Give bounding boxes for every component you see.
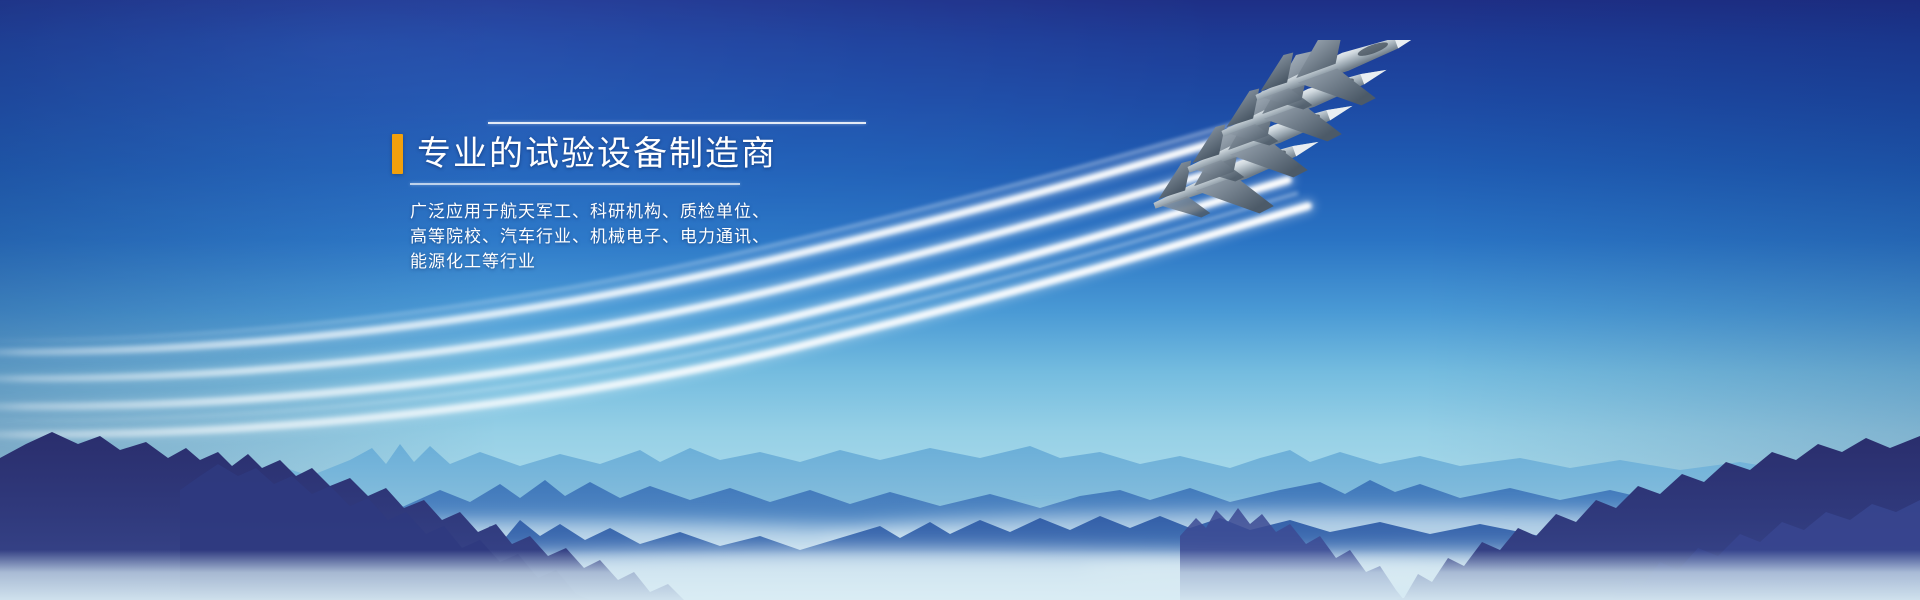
hero-copy: 专业的试验设备制造商 广泛应用于航天军工、科研机构、质检单位、 高等院校、汽车行… — [392, 122, 912, 274]
hero-banner: 专业的试验设备制造商 广泛应用于航天军工、科研机构、质检单位、 高等院校、汽车行… — [0, 0, 1920, 600]
page-title: 专业的试验设备制造商 — [417, 134, 777, 174]
subtitle-line-3: 能源化工等行业 — [410, 249, 912, 274]
subtitle-line-2: 高等院校、汽车行业、机械电子、电力通讯、 — [410, 224, 912, 249]
subtitle-line-1: 广泛应用于航天军工、科研机构、质检单位、 — [410, 199, 912, 224]
accent-bar-icon — [392, 134, 403, 174]
headline-row: 专业的试验设备制造商 — [392, 134, 912, 174]
subtitle-block: 广泛应用于航天军工、科研机构、质检单位、 高等院校、汽车行业、机械电子、电力通讯… — [410, 199, 912, 274]
headline-bottom-rule — [410, 183, 740, 185]
fighter-jet-formation — [1120, 40, 1520, 280]
mountain-range — [0, 340, 1920, 600]
headline-top-rule — [488, 122, 866, 124]
